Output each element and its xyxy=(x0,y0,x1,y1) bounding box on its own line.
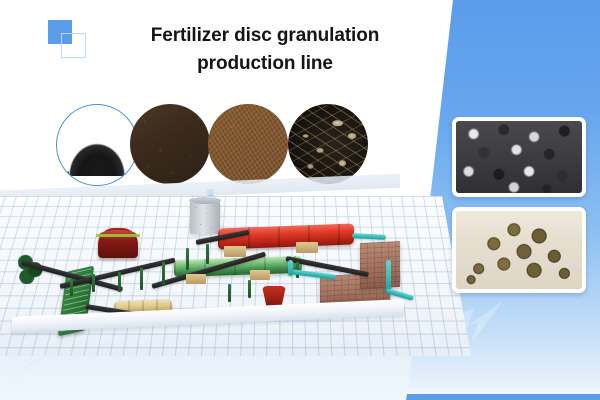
transfer-pipe xyxy=(288,260,293,276)
dark-compost xyxy=(130,104,210,184)
drum-support-block xyxy=(186,274,206,284)
support-leg xyxy=(92,274,95,292)
material-circle-black-granular xyxy=(56,104,138,186)
material-circle-root-matter xyxy=(288,104,368,184)
brown-pellets-photo xyxy=(452,207,586,293)
panel-bottom-strip xyxy=(400,394,600,400)
support-leg xyxy=(70,280,73,296)
support-leg xyxy=(248,280,251,298)
production-line-3d-render xyxy=(0,188,440,363)
brown-pellets-texture xyxy=(456,211,582,289)
drum-support-block xyxy=(250,270,270,280)
root-organic-matter xyxy=(288,104,368,184)
workshop-building-rear xyxy=(360,241,400,289)
grey-black-granules-texture xyxy=(456,121,582,193)
support-leg xyxy=(118,272,121,292)
fibrous-brown-material xyxy=(208,104,288,184)
support-leg xyxy=(206,244,209,264)
logo-outlined-square xyxy=(61,33,86,58)
brand-logo xyxy=(48,20,94,62)
support-leg xyxy=(186,248,189,270)
disc-granulator xyxy=(98,228,138,258)
storage-silo xyxy=(190,200,220,234)
support-leg xyxy=(140,268,143,290)
page-title: Fertilizer disc granulation production l… xyxy=(95,22,435,77)
material-circle-dark-compost xyxy=(130,104,210,184)
support-leg xyxy=(162,262,165,286)
drum-support-block xyxy=(224,246,246,257)
grey-black-granules-photo xyxy=(452,117,586,197)
banner-root: Fertilizer disc granulation production l… xyxy=(0,0,600,400)
page-title-line-2: production line xyxy=(95,50,435,78)
material-circle-fibrous-brown xyxy=(208,104,288,184)
support-leg xyxy=(228,284,231,302)
drum-support-block xyxy=(296,242,318,253)
page-title-line-1: Fertilizer disc granulation xyxy=(151,25,380,46)
black-granular-material xyxy=(63,130,130,176)
